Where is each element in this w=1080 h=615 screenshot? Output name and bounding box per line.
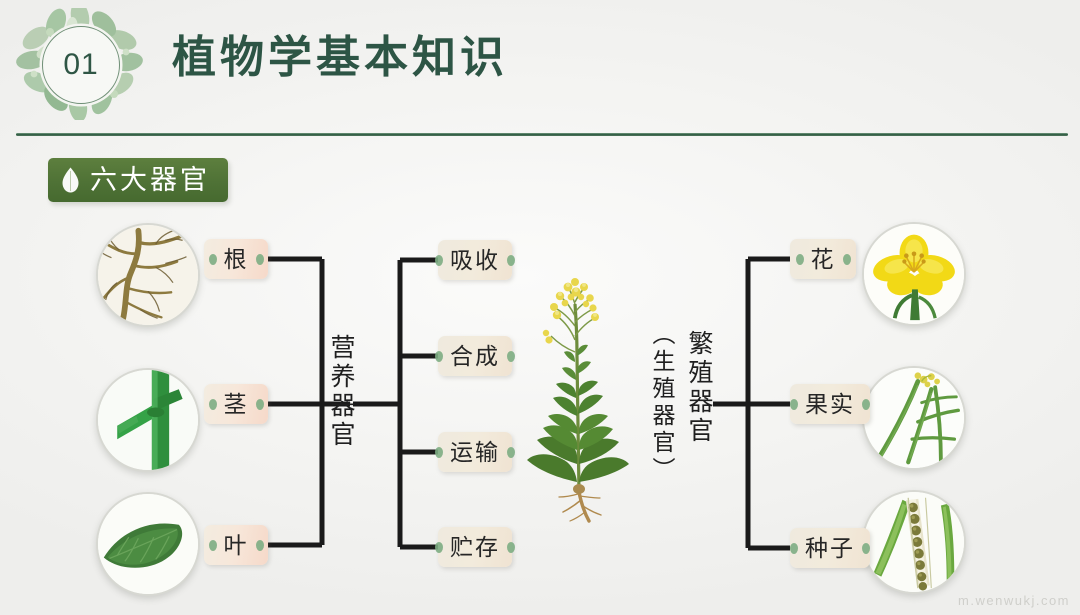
leaf-dot-icon	[435, 255, 443, 266]
seed-photo	[862, 490, 966, 594]
leaf-dot-icon	[256, 254, 264, 265]
wreath-badge: 01	[16, 8, 144, 120]
pill-organ-leaf[interactable]: 叶	[204, 525, 268, 565]
pill-organ-stem[interactable]: 茎	[204, 384, 268, 424]
leaf-dot-icon	[796, 254, 804, 265]
leaf-dot-icon	[256, 540, 264, 551]
badge-number: 01	[63, 50, 98, 80]
section-chip-label: 六大器官	[90, 167, 210, 194]
section-chip-six-organs[interactable]: 六大器官	[48, 158, 228, 202]
root-photo	[96, 223, 200, 327]
pill-label: 吸收	[450, 249, 500, 272]
group-label-vegetative: 营养器官	[328, 334, 353, 450]
leaf-dot-icon	[790, 399, 798, 410]
pill-label: 果实	[805, 393, 855, 416]
pill-label: 种子	[805, 537, 855, 560]
pill-label: 根	[224, 248, 249, 271]
leaf-dot-icon	[507, 447, 515, 458]
leaf-dot-icon	[507, 542, 515, 553]
fruit-photo	[862, 366, 966, 470]
site-watermark: m.wenwukj.com	[958, 593, 1070, 608]
leaf-dot-icon	[435, 447, 443, 458]
group-label-reproductive: 繁殖器官	[686, 330, 711, 446]
stem-photo	[96, 368, 200, 472]
header-divider	[16, 133, 1068, 136]
flowering-plant-illustration	[505, 278, 655, 523]
leaf-dot-icon	[209, 399, 217, 410]
pill-label: 合成	[450, 345, 500, 368]
pill-label: 运输	[450, 441, 500, 464]
pill-reproductive-fruit[interactable]: 果实	[790, 384, 870, 424]
pill-function-transport[interactable]: 运输	[438, 432, 512, 472]
leaf-photo	[96, 492, 200, 596]
pill-function-storage[interactable]: 贮存	[438, 527, 512, 567]
flower-photo	[862, 222, 966, 326]
leaf-dot-icon	[862, 399, 870, 410]
pill-organ-root[interactable]: 根	[204, 239, 268, 279]
leaf-dot-icon	[843, 254, 851, 265]
leaf-dot-icon	[435, 351, 443, 362]
leaf-dot-icon	[862, 543, 870, 554]
pill-label: 贮存	[450, 536, 500, 559]
leaf-icon	[62, 167, 79, 193]
leaf-dot-icon	[790, 543, 798, 554]
leaf-dot-icon	[435, 542, 443, 553]
page-title: 植物学基本知识	[172, 30, 508, 85]
leaf-dot-icon	[256, 399, 264, 410]
pill-label: 花	[811, 248, 836, 271]
leaf-dot-icon	[209, 540, 217, 551]
badge-circle: 01	[42, 26, 120, 104]
pill-function-absorption[interactable]: 吸收	[438, 240, 512, 280]
leaf-dot-icon	[209, 254, 217, 265]
pill-label: 茎	[224, 393, 249, 416]
page-header: 01 植物学基本知识	[0, 0, 1080, 140]
leaf-dot-icon	[507, 351, 515, 362]
leaf-dot-icon	[507, 255, 515, 266]
group-sublabel-reproductive: （生殖器官）	[650, 322, 673, 484]
pill-function-synthesis[interactable]: 合成	[438, 336, 512, 376]
pill-reproductive-flower[interactable]: 花	[790, 239, 856, 279]
pill-reproductive-seed[interactable]: 种子	[790, 528, 870, 568]
pill-label: 叶	[224, 534, 249, 557]
